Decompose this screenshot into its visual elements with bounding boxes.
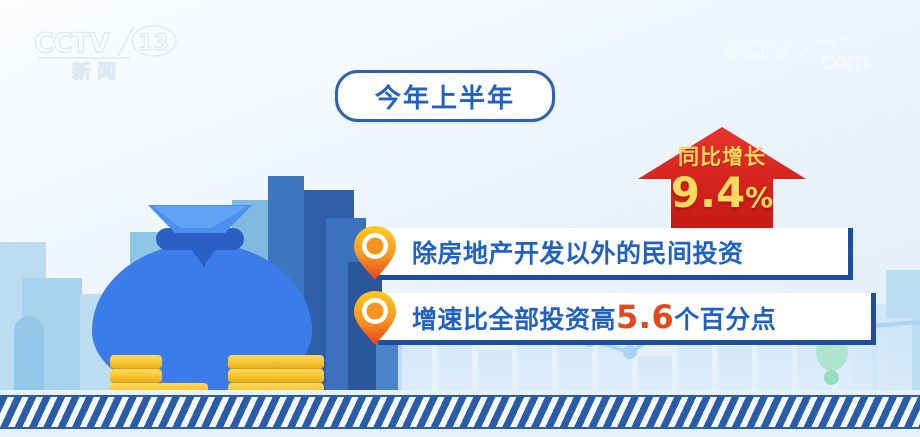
svg-text:13: 13 xyxy=(138,31,169,56)
location-pin-icon xyxy=(352,224,398,282)
bullet-row-2-prefix: 增速比全部投资高 xyxy=(412,305,616,334)
growth-value-group: 9.4% xyxy=(638,168,806,217)
title-badge-label: 今年上半年 xyxy=(375,78,515,115)
diagonal-stripe-pattern xyxy=(0,395,920,429)
bullet-row-1-box: 除房地产开发以外的民间投资 xyxy=(378,228,853,280)
balloon-dot-decoration xyxy=(824,370,839,385)
bullet-row-2-highlight-number: 5.6 xyxy=(616,298,674,336)
bullet-row-2-text: 增速比全部投资高5.6个百分点 xyxy=(378,298,790,336)
growth-caption: 同比增长 xyxy=(638,141,806,171)
bullet-row-2-box: 增速比全部投资高5.6个百分点 xyxy=(378,293,876,345)
svg-text:CCTV: CCTV xyxy=(724,36,792,64)
footer-band xyxy=(0,390,920,437)
bullet-row-1-text: 除房地产开发以外的民间投资 xyxy=(378,234,758,270)
cctvcom-watermark: CCTV com 央视网 xyxy=(722,32,892,74)
cctv13-sub-label: 新闻 xyxy=(72,60,122,80)
growth-arrow: 同比增长 9.4% xyxy=(638,127,806,229)
growth-value: 9.4 xyxy=(671,168,745,217)
svg-text:com: com xyxy=(822,49,869,74)
bullet-row-2-suffix: 个百分点 xyxy=(674,305,776,334)
cctvcom-cn-label: 央视网 xyxy=(826,35,862,49)
svg-text:CCTV: CCTV xyxy=(34,28,110,59)
title-badge: 今年上半年 xyxy=(335,70,555,122)
growth-unit: % xyxy=(745,181,773,214)
location-pin-icon xyxy=(352,289,398,347)
infographic-canvas: CCTV 13 新闻 CCTV com 央视网 今年上半年 同比增长 9.4% … xyxy=(0,0,920,437)
cctv13-logo-watermark: CCTV 13 新闻 xyxy=(30,24,190,80)
